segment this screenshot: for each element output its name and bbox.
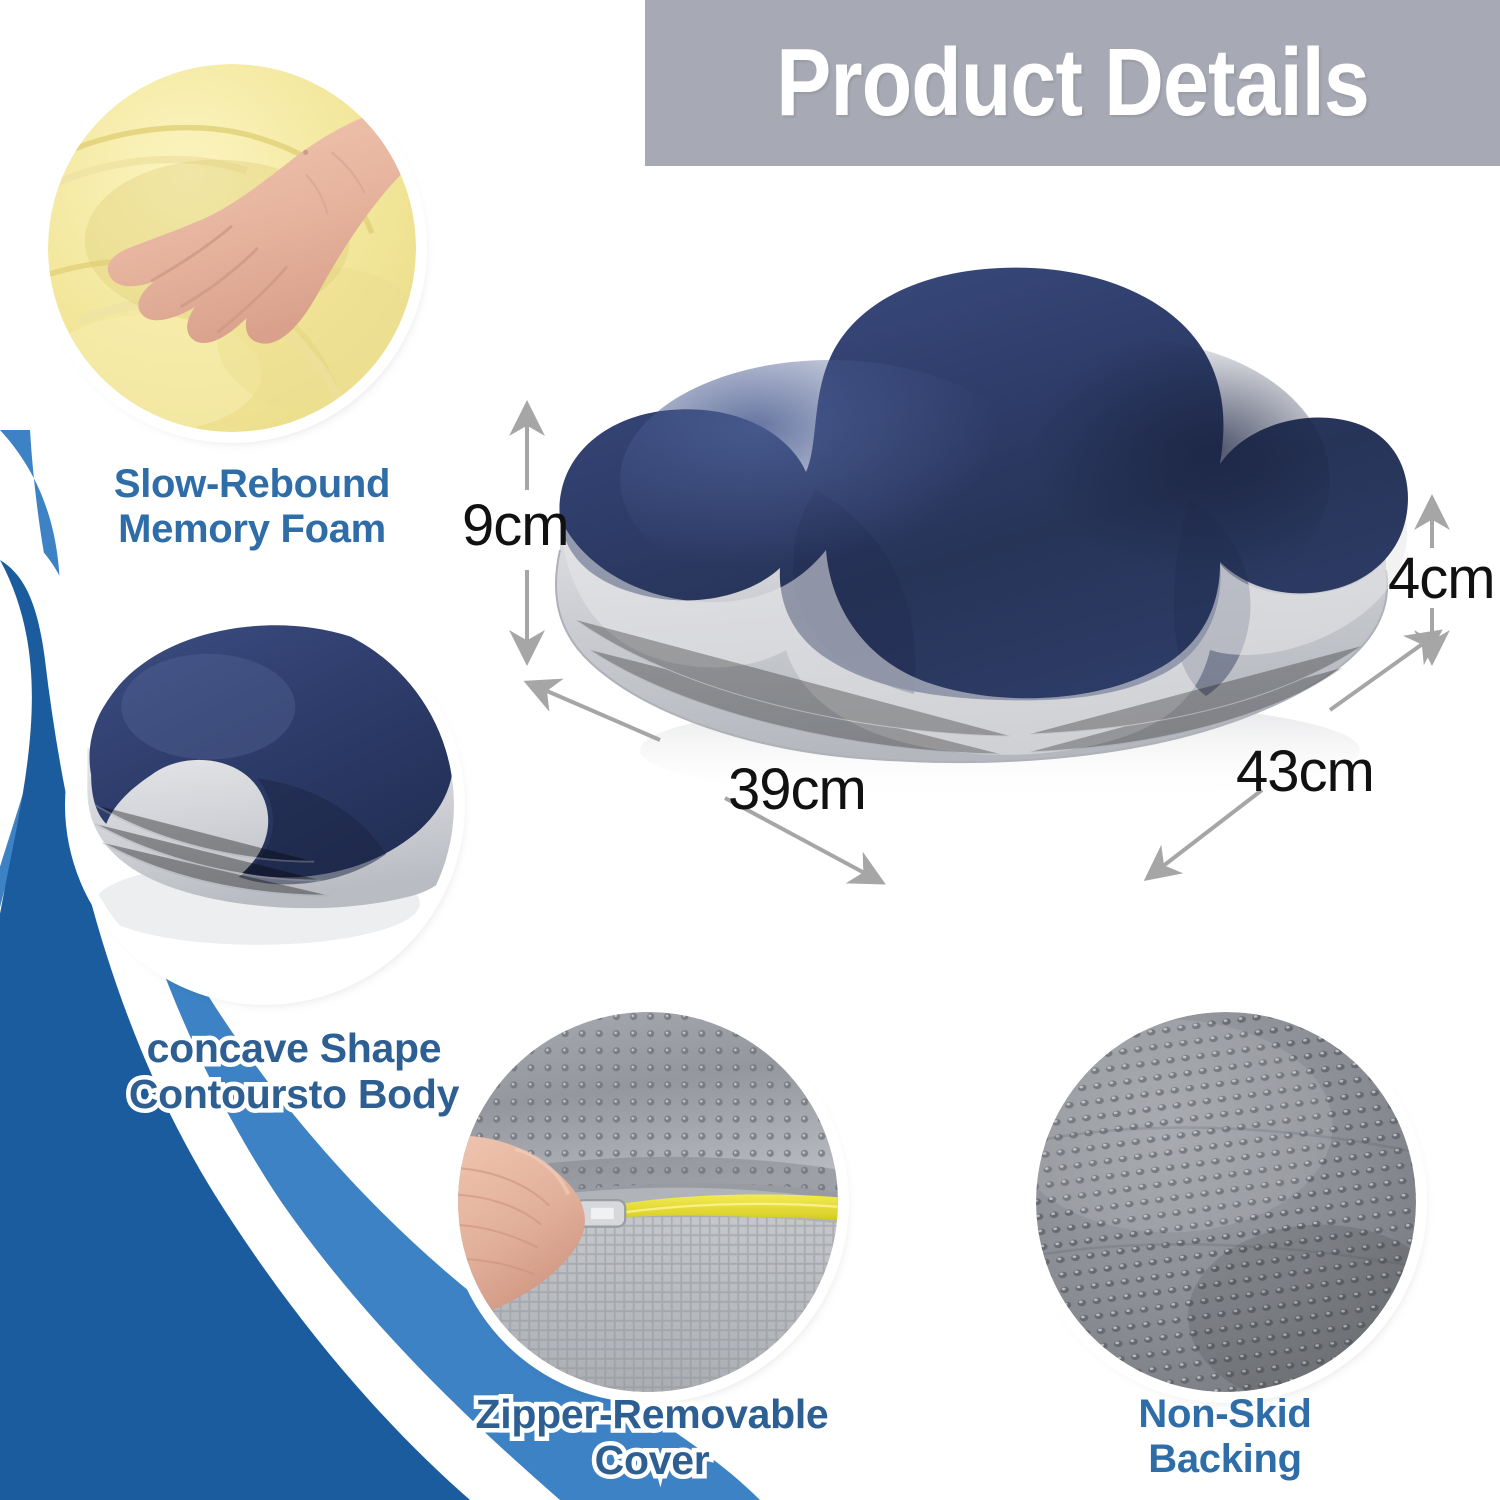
feature-caption-concave-shape: concave Shape Contoursto Body bbox=[104, 1026, 484, 1118]
feature-image-concave-shape bbox=[76, 616, 454, 994]
dimension-label-43cm: 43cm bbox=[1236, 738, 1374, 805]
header-banner: Product Details bbox=[645, 0, 1500, 166]
feature-caption-non-skid-backing: Non-Skid Backing bbox=[1040, 1392, 1410, 1482]
feature-caption-memory-foam: Slow-Rebound Memory Foam bbox=[52, 462, 452, 552]
page-title: Product Details bbox=[776, 35, 1369, 131]
dimension-label-9cm: 9cm bbox=[462, 492, 569, 559]
main-product-image bbox=[530, 250, 1430, 810]
feature-caption-zipper-cover: Zipper-Removable Cover bbox=[452, 1392, 852, 1484]
dimension-label-39cm: 39cm bbox=[728, 756, 866, 823]
feature-image-non-skid-backing bbox=[1036, 1012, 1416, 1392]
feature-image-memory-foam bbox=[48, 64, 416, 432]
infographic-canvas: Product Details bbox=[0, 0, 1500, 1500]
feature-image-zipper-cover bbox=[458, 1012, 838, 1392]
dimension-label-4cm: 4cm bbox=[1388, 545, 1495, 612]
